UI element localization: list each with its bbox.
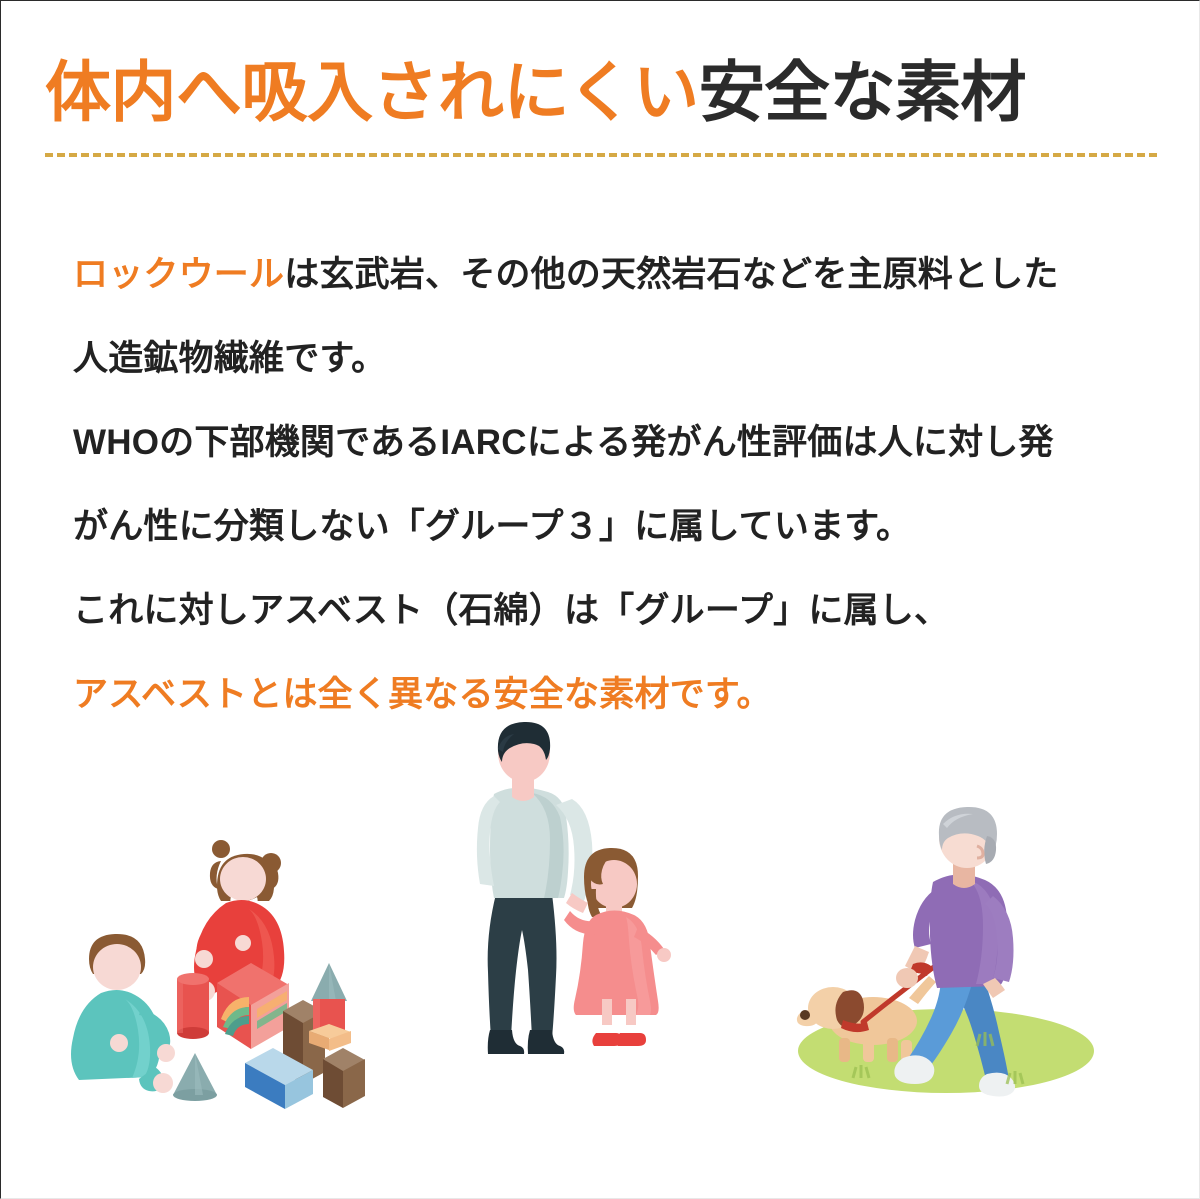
teal-spire-tower-block xyxy=(309,963,351,1051)
teal-cone-block xyxy=(173,1053,217,1101)
dashed-divider xyxy=(45,153,1157,157)
body-line-2-text: 人造鉱物繊維です。 xyxy=(73,339,386,378)
body-line-5: これに対しアスベスト（石綿）は「グループ」に属し、 xyxy=(73,569,1143,653)
page-title-accent-part: 体内へ吸入されにくい xyxy=(45,55,699,129)
baby-in-teal-outfit-figure xyxy=(71,934,175,1093)
body-line-2: 人造鉱物繊維です。 xyxy=(73,317,1143,401)
page-root: 体内へ吸入されにくい安全な素材 ロックウールは玄武岩、その他の天然岩石などを主原… xyxy=(0,0,1200,1199)
body-line-5-text: これに対しアスベスト（石綿）は「グループ」に属し、 xyxy=(73,591,949,630)
body-line-4: がん性に分類しない「グループ３」に属しています。 xyxy=(73,485,1143,569)
body-line-1-rest: は玄武岩、その他の天然岩石などを主原料とした xyxy=(284,255,1058,294)
elderly-walking-dog-icon xyxy=(791,806,1101,1106)
page-title: 体内へ吸入されにくい安全な素材 xyxy=(45,53,1155,131)
illustration-children-playing xyxy=(71,831,371,1116)
body-line-4-text: がん性に分類しない「グループ３」に属しています。 xyxy=(73,507,911,546)
body-line-3-text: WHOの下部機関であるIARCによる発がん性評価は人に対し発 xyxy=(73,423,1054,462)
body-line-3: WHOの下部機関であるIARCによる発がん性評価は人に対し発 xyxy=(73,401,1143,485)
brown-tall-block xyxy=(323,1048,365,1108)
illustration-elderly-walking-dog xyxy=(791,806,1101,1111)
father-daughter-icon xyxy=(456,721,686,1061)
body-line-1: ロックウールは玄武岩、その他の天然岩石などを主原料とした xyxy=(73,233,1143,317)
children-playing-blocks-icon xyxy=(71,831,371,1111)
illustration-row xyxy=(1,721,1200,1141)
red-cylinder-block xyxy=(177,973,209,1039)
body-copy: ロックウールは玄武岩、その他の天然岩石などを主原料とした 人造鉱物繊維です。 W… xyxy=(73,233,1143,737)
page-title-plain-part: 安全な素材 xyxy=(699,55,1027,129)
body-line-6-text: アスベストとは全く異なる安全な素材です。 xyxy=(73,675,772,714)
body-line-1-accent: ロックウール xyxy=(73,255,284,294)
illustration-father-and-daughter xyxy=(456,721,686,1066)
